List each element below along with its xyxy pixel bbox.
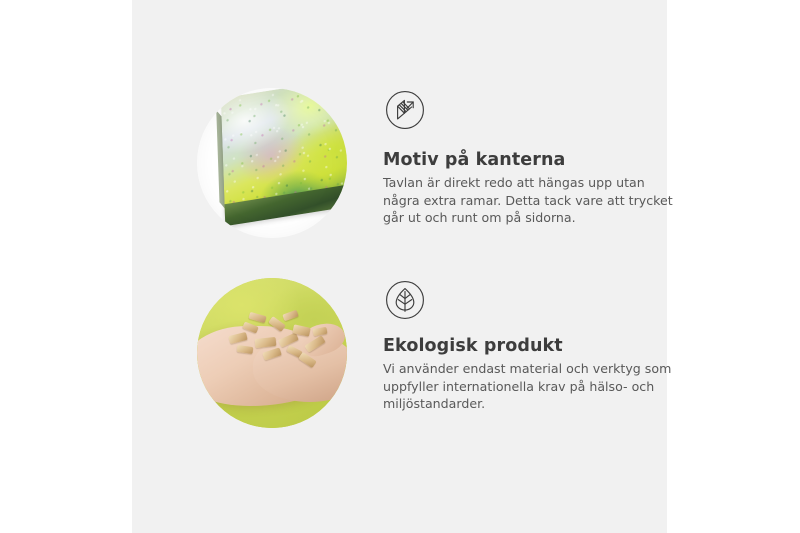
canvas-front-face	[221, 88, 347, 216]
feature-title: Motiv på kanterna	[383, 150, 565, 170]
canvas-edge-print-icon	[385, 90, 425, 130]
canvas-bottom-edge	[225, 184, 347, 226]
feature-description: Vi använder endast material och verktyg …	[383, 360, 673, 413]
feature-title: Ekologisk produkt	[383, 336, 563, 356]
product-info-card: Motiv på kanterna Tavlan är direkt redo …	[0, 0, 800, 533]
feature-description: Tavlan är direkt redo att hängas upp uta…	[383, 174, 673, 227]
leaf-icon	[385, 280, 425, 320]
canvas-side-edge	[216, 110, 230, 214]
canvas-print-corner-photo	[197, 88, 347, 238]
canvas-illustration	[220, 88, 347, 236]
canvas-texture	[221, 88, 347, 216]
content-panel: Motiv på kanterna Tavlan är direkt redo …	[132, 0, 667, 533]
hands-holding-wood-chips-photo	[197, 278, 347, 428]
wood-chips-pile	[225, 312, 337, 364]
